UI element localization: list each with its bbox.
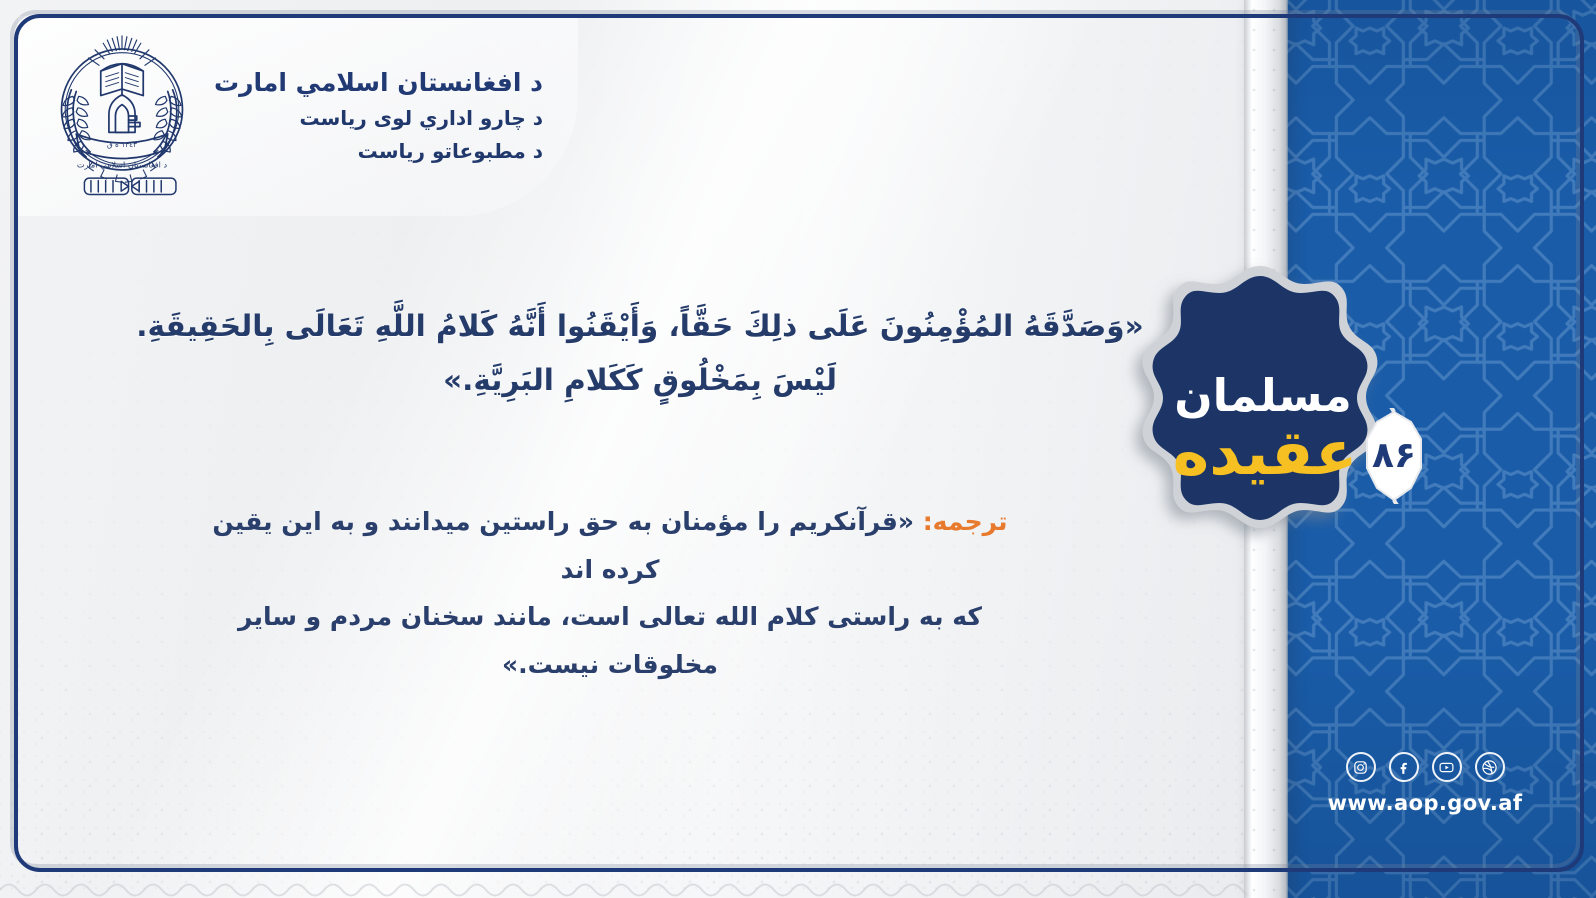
- header: ١٣٤٣ ه ق د افغانستان اسلامي امارت: [40, 26, 560, 206]
- arabic-quote-line-2: لَيْسَ بِمَخْلُوقٍ كَكَلامِ البَرِيَّةِ.…: [60, 354, 1220, 408]
- arabic-quote-line-1: «وَصَدَّقَهُ المُؤْمِنُونَ عَلَى ذلِكَ ح…: [60, 300, 1220, 354]
- header-titles: د افغانستان اسلامي امارت د چارو اداري لو…: [214, 66, 543, 166]
- badge-number: ۸۶: [1351, 408, 1437, 504]
- facebook-icon[interactable]: [1389, 752, 1419, 782]
- header-title-line2: د چارو اداري لوی ریاست: [299, 104, 543, 133]
- wave-strip: [0, 872, 1272, 898]
- website-url[interactable]: www.aop.gov.af: [1328, 791, 1523, 815]
- badge-number-text: ۸۶: [1372, 435, 1416, 476]
- translation-label: ترجمه:: [923, 507, 1008, 536]
- persian-translation: ترجمه: «قرآنکریم را مؤمنان به حق راستین …: [200, 498, 1020, 688]
- footer: www.aop.gov.af: [1300, 752, 1550, 815]
- translation-line-1: ترجمه: «قرآنکریم را مؤمنان به حق راستین …: [200, 498, 1020, 593]
- youtube-icon[interactable]: [1432, 752, 1462, 782]
- header-title-line1: د افغانستان اسلامي امارت: [214, 66, 543, 100]
- emirate-emblem: ١٣٤٣ ه ق د افغانستان اسلامي امارت: [40, 31, 204, 201]
- poster-canvas: ١٣٤٣ ه ق د افغانستان اسلامي امارت: [0, 0, 1596, 898]
- arabic-quote: «وَصَدَّقَهُ المُؤْمِنُونَ عَلَى ذلِكَ ح…: [60, 300, 1220, 407]
- svg-text:١٣٤٣ ه ق: ١٣٤٣ ه ق: [107, 140, 137, 149]
- translation-line-2: که به راستی کلام الله تعالی است، مانند س…: [200, 593, 1020, 688]
- translation-text-1: «قرآنکریم را مؤمنان به حق راستین میدانند…: [212, 507, 922, 584]
- social-links: [1346, 752, 1505, 782]
- instagram-icon[interactable]: [1346, 752, 1376, 782]
- dribbble-icon[interactable]: [1475, 752, 1505, 782]
- header-title-line3: د مطبوعاتو ریاست: [358, 137, 543, 166]
- aqida-badge: مسلمان عقیده ۸۶: [1085, 258, 1435, 598]
